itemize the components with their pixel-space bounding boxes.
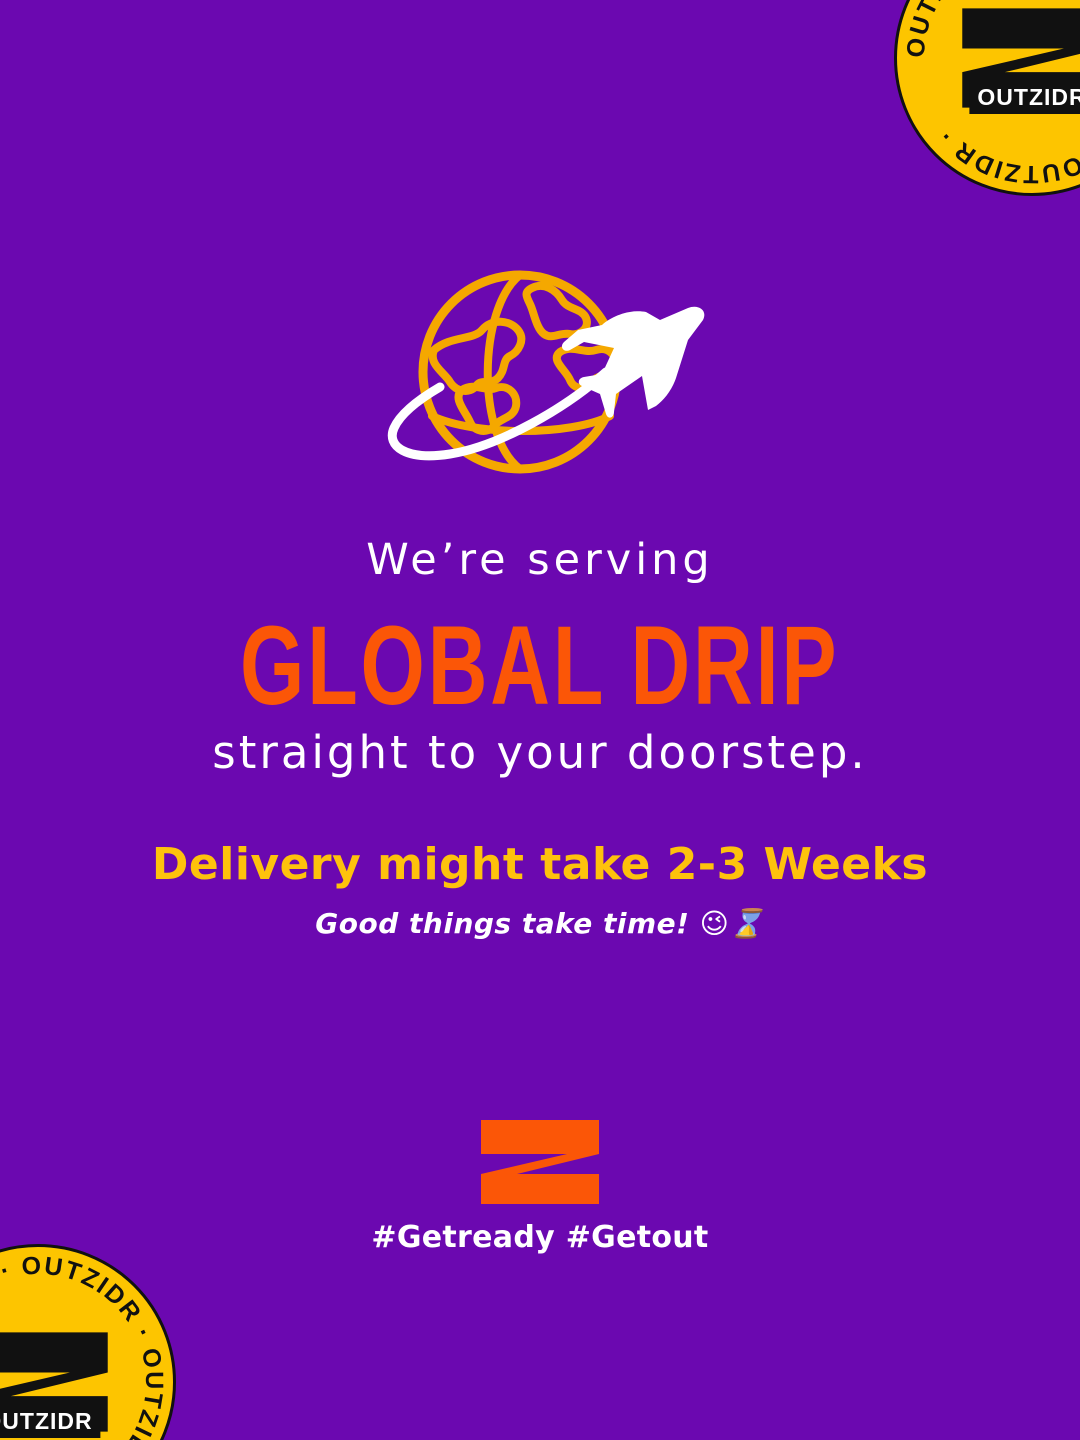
stamp-wordmark-bottom-left: OUTZIDR	[0, 1404, 101, 1438]
outzidr-z-logo	[477, 1118, 603, 1206]
delivery-headline: Delivery might take 2-3 Weeks	[152, 841, 928, 889]
headline-line-1: We’re serving	[212, 536, 867, 585]
footer-hashtags: #Getready #Getout	[371, 1220, 708, 1255]
footer-block: #Getready #Getout	[0, 1118, 1080, 1255]
delivery-block: Delivery might take 2-3 Weeks Good thing…	[152, 841, 928, 939]
delivery-subline: Good things take time! 😉⌛	[152, 907, 928, 940]
promo-poster: We’re serving GLOBAL DRIP straight to yo…	[0, 0, 1080, 1440]
stamp-wordmark-top-right: OUTZIDR	[969, 80, 1080, 114]
headline-block: We’re serving GLOBAL DRIP straight to yo…	[212, 536, 867, 779]
outzidr-stamp-top-right: OUTZIDR · OUTZIDR · OUTZIDR · OUTZIDR · …	[894, 0, 1080, 196]
outzidr-stamp-bottom-left: OUTZIDR · OUTZIDR · OUTZIDR · OUTZIDR · …	[0, 1244, 176, 1440]
headline-line-2: GLOBAL DRIP	[232, 595, 848, 736]
globe-airplane-icon	[370, 268, 710, 494]
